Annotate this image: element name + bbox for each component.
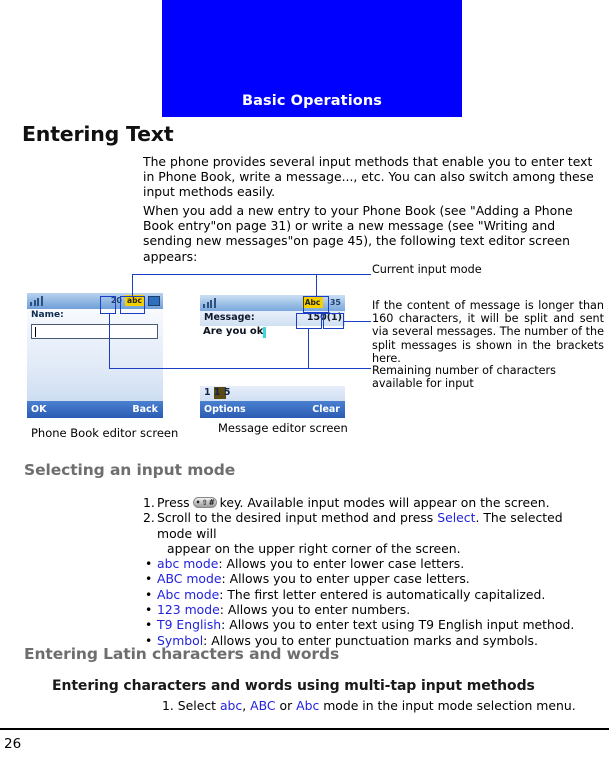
mode-description: : Allows you to enter text using T9 Engl… xyxy=(221,617,574,632)
step-item-1: 1. Press•⇧#key. Available input modes wi… xyxy=(143,495,601,510)
callout-remaining-characters: Remaining number of characters available… xyxy=(372,364,604,390)
signal-icon xyxy=(30,296,43,306)
chapter-title: Basic Operations xyxy=(162,93,462,109)
softkey-back[interactable]: Back xyxy=(132,404,158,415)
mode-name: abc mode xyxy=(157,556,218,571)
key-glyph-shift: ⇧ xyxy=(202,497,208,508)
mode-name: 123 mode xyxy=(157,602,220,617)
text-caret xyxy=(35,327,36,337)
step-number: 2. xyxy=(143,510,155,525)
bullet-marker: • xyxy=(145,602,152,617)
mode-description: : Allows you to enter lower case letters… xyxy=(218,556,464,571)
mode-item-Abc: • Abc mode: The first letter entered is … xyxy=(143,587,601,602)
mode-item-t9-english: • T9 English: Allows you to enter text u… xyxy=(143,617,601,632)
text-cursor xyxy=(263,327,266,338)
page-number: 26 xyxy=(4,736,21,752)
chapter-banner: Basic Operations xyxy=(162,0,462,117)
last-step-text-b: mode in the input mode selection menu. xyxy=(319,698,575,713)
subsection-heading-multitap: Entering characters and words using mult… xyxy=(52,678,535,694)
step-number: 1. xyxy=(162,698,174,713)
select-link[interactable]: Select xyxy=(437,510,475,525)
bullet-marker: • xyxy=(145,556,152,571)
section-heading-latin-characters: Entering Latin characters and words xyxy=(24,645,339,663)
mode-link-ABC[interactable]: ABC xyxy=(250,698,275,713)
callout-line-mode-top xyxy=(132,274,371,275)
page-title: Entering Text xyxy=(22,122,173,146)
name-input-field[interactable] xyxy=(31,324,158,339)
mode-item-123: • 123 mode: Allows you to enter numbers. xyxy=(143,602,601,617)
message-text: Are you ok xyxy=(203,326,263,337)
callout-line-remaining xyxy=(109,368,371,369)
last-step-text-a: Select xyxy=(178,698,220,713)
key-glyph-hash: # xyxy=(209,497,215,508)
last-step-sep-2: or xyxy=(276,698,297,713)
bullet-marker: • xyxy=(145,587,152,602)
softkey-bar: OK Back xyxy=(27,401,163,418)
mode-name: T9 English xyxy=(157,617,221,632)
step-item-2: 2. Scroll to the desired input method an… xyxy=(143,510,601,556)
softkey-ok[interactable]: OK xyxy=(31,404,46,415)
section-heading-selecting-input-mode: Selecting an input mode xyxy=(24,461,235,479)
mode-description: : Allows you to enter numbers. xyxy=(220,602,410,617)
mode-description: : Allows you to enter upper case letters… xyxy=(222,571,470,586)
hash-shift-key-icon: •⇧# xyxy=(193,497,217,508)
footer-divider xyxy=(0,728,609,730)
highlight-box-msg-split xyxy=(323,313,344,329)
highlight-box-msg-remaining xyxy=(296,313,322,329)
softkey-clear[interactable]: Clear xyxy=(312,404,340,415)
callout-line-mode-pb xyxy=(132,274,133,297)
bullet-marker: • xyxy=(145,571,152,586)
mode-link-abc[interactable]: abc xyxy=(220,698,242,713)
highlight-box-pb-count xyxy=(100,296,116,314)
mode-item-abc: • abc mode: Allows you to enter lower ca… xyxy=(143,556,601,571)
softkey-bar: Options Clear xyxy=(200,401,345,418)
highlight-box-msg-mode xyxy=(303,296,329,313)
step1-text-after: key. Available input modes will appear o… xyxy=(220,495,550,510)
highlight-box-pb-mode xyxy=(120,296,145,314)
mode-name: Abc mode xyxy=(157,587,219,602)
context-paragraph: When you add a new entry to your Phone B… xyxy=(143,203,598,264)
mode-item-ABC: • ABC mode: Allows you to enter upper ca… xyxy=(143,571,601,586)
bullet-marker: • xyxy=(145,617,152,632)
step2-text-a: Scroll to the desired input method and p… xyxy=(157,510,437,525)
multitap-step-1: 1. Select abc, ABC or Abc mode in the in… xyxy=(162,698,576,713)
mode-link-Abc[interactable]: Abc xyxy=(296,698,319,713)
mode-description: : The first letter entered is automatica… xyxy=(219,587,545,602)
callout-current-input-mode: Current input mode xyxy=(372,263,482,276)
callout-line-remaining-pb xyxy=(109,314,110,369)
name-field-label: Name: xyxy=(31,310,64,320)
input-mode-steps: 1. Press•⇧#key. Available input modes wi… xyxy=(143,495,601,648)
step-number: 1. xyxy=(143,495,155,510)
softkey-options[interactable]: Options xyxy=(204,404,246,415)
intro-paragraph: The phone provides several input methods… xyxy=(143,154,598,200)
callout-line-split-note xyxy=(344,321,371,322)
message-body-area[interactable]: Are you ok xyxy=(200,326,345,387)
editor-screens-figure: 20 abc Name: OK Back Phone Book editor s… xyxy=(0,260,609,455)
step1-text-before: Press xyxy=(157,495,190,510)
key-glyph-dot: • xyxy=(196,497,201,508)
step2-continuation: appear on the upper right corner of the … xyxy=(157,541,601,556)
message-footer-text: 1 1 5 xyxy=(204,387,230,398)
message-field-label: Message: xyxy=(204,312,255,323)
message-footer-row: 1 1 5 xyxy=(200,386,345,401)
battery-icon xyxy=(148,296,160,306)
message-screen-caption: Message editor screen xyxy=(218,421,348,435)
mode-name: ABC mode xyxy=(157,571,222,586)
phone-book-screen-caption: Phone Book editor screen xyxy=(31,426,178,440)
callout-line-remaining-msg xyxy=(308,329,309,369)
callout-split-message-note: If the content of message is longer than… xyxy=(372,299,604,365)
signal-icon xyxy=(203,298,216,308)
callout-line-mode-msg xyxy=(316,274,317,297)
char-count-badge: 35 xyxy=(330,298,341,307)
last-step-sep-1: , xyxy=(242,698,250,713)
